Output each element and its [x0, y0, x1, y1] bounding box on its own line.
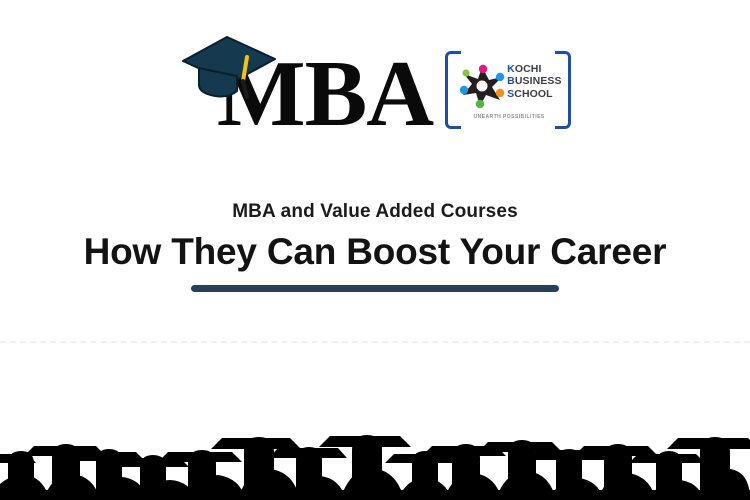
kbs-star-figure-icon [458, 62, 506, 110]
kbs-cap-b: B [507, 75, 515, 87]
dot-lime [463, 69, 470, 76]
kbs-rest-chool: CHOOL [514, 88, 552, 100]
dot-orange [496, 88, 504, 96]
dot-blue-left [460, 85, 468, 93]
kochi-business-school-logo: KOCHI BUSINESS SCHOOL UNEARTH POSSIBILIT… [445, 50, 571, 124]
kbs-rest-ochi: OCHI [515, 63, 542, 75]
dot-blue-top [496, 72, 504, 80]
dot-green [476, 99, 484, 107]
kbs-rest-usiness: USINESS [515, 75, 562, 87]
graduates-crowd-silhouette [0, 424, 750, 500]
headline-text: How They Can Boost Your Career [0, 229, 750, 274]
kbs-tagline: UNEARTH POSSIBILITIES [461, 114, 557, 120]
kbs-name-line-kochi: KOCHI [507, 63, 569, 76]
mba-wordmark-text: MBA [217, 47, 433, 141]
dashed-divider [0, 341, 750, 343]
kbs-name-text: KOCHI BUSINESS SCHOOL [507, 63, 569, 101]
silhouette-base [0, 490, 750, 500]
kbs-cap-k: K [507, 63, 515, 75]
headline-block: MBA and Value Added Courses How They Can… [0, 200, 750, 292]
logo-lockup: MBA KOCHI BUSINESS SCHOOL [0, 30, 750, 145]
banner-image: MBA KOCHI BUSINESS SCHOOL [0, 0, 750, 500]
kbs-name-line-school: SCHOOL [507, 88, 569, 101]
dot-pink [479, 64, 487, 72]
subtitle-text: MBA and Value Added Courses [0, 200, 750, 224]
mba-logo: MBA [179, 33, 433, 143]
headline-underline-bar [191, 285, 559, 292]
kbs-name-line-business: BUSINESS [507, 75, 569, 88]
